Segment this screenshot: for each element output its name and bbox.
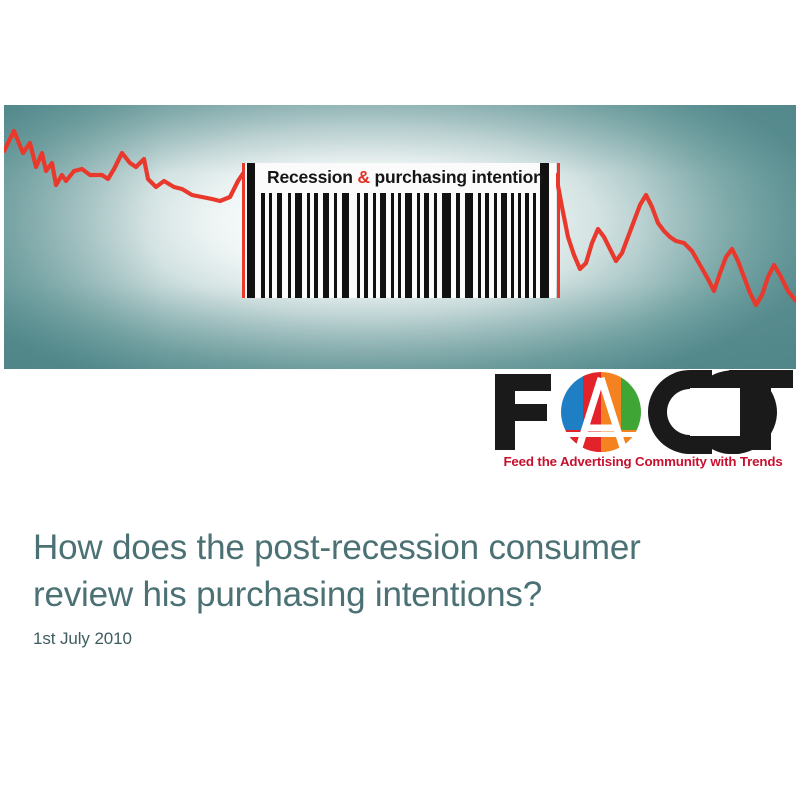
barcode-bar (364, 193, 368, 298)
barcode-bar (357, 193, 360, 298)
barcode-bar (261, 193, 265, 298)
barcode-bar (391, 193, 394, 298)
barcode-title-ampersand: & (357, 167, 369, 187)
barcode-bar (501, 193, 507, 298)
declining-trend-line-left (4, 131, 256, 201)
barcode-bar (342, 193, 349, 298)
barcode-bar (417, 193, 420, 298)
barcode-bar (398, 193, 401, 298)
barcode-bar (295, 193, 302, 298)
fact-tagline: Feed the Advertising Community with Tren… (493, 454, 793, 469)
barcode-graphic: Recession & purchasing intention (245, 163, 556, 298)
barcode-bar (511, 193, 514, 298)
title-slide: Recession & purchasing intention (0, 0, 800, 800)
barcode-bar (478, 193, 481, 298)
barcode-bar (323, 193, 329, 298)
barcode-bar (314, 193, 318, 298)
barcode-bar (277, 193, 282, 298)
page-title-line-2: review his purchasing intentions? (33, 571, 763, 618)
barcode-bar (533, 193, 536, 298)
logo-a-base-gap (559, 432, 643, 437)
barcode-rail-right-icon (557, 163, 560, 298)
fact-logo: Feed the Advertising Community with Tren… (493, 370, 793, 478)
barcode-bar (494, 193, 497, 298)
barcode-bar (247, 163, 255, 298)
barcode-bar (380, 193, 386, 298)
barcode-bar (424, 193, 429, 298)
barcode-bar (525, 193, 529, 298)
barcode-bar (307, 193, 310, 298)
barcode-bar (288, 193, 291, 298)
barcode-bar (434, 193, 437, 298)
logo-letter-c-mouth (690, 388, 740, 436)
logo-letter-a-mark (559, 372, 643, 454)
fact-wordmark (493, 370, 793, 454)
barcode-bar (269, 193, 272, 298)
page-title-line-1: How does the post-recession consumer (33, 528, 641, 567)
barcode-bar (334, 193, 337, 298)
barcode-bar (405, 193, 412, 298)
logo-letter-f (495, 374, 551, 450)
barcode-bar (456, 193, 460, 298)
barcode-title-prefix: Recession (267, 167, 357, 187)
barcode-bar (518, 193, 521, 298)
page-title: How does the post-recession consumer rev… (33, 524, 763, 618)
presentation-date: 1st July 2010 (33, 629, 132, 649)
barcode-bar (442, 193, 451, 298)
barcode-bar (465, 193, 473, 298)
barcode-title: Recession & purchasing intention (267, 165, 544, 189)
barcode-bar (485, 193, 489, 298)
barcode-bar (373, 193, 376, 298)
barcode-title-suffix: purchasing intention (370, 167, 544, 187)
